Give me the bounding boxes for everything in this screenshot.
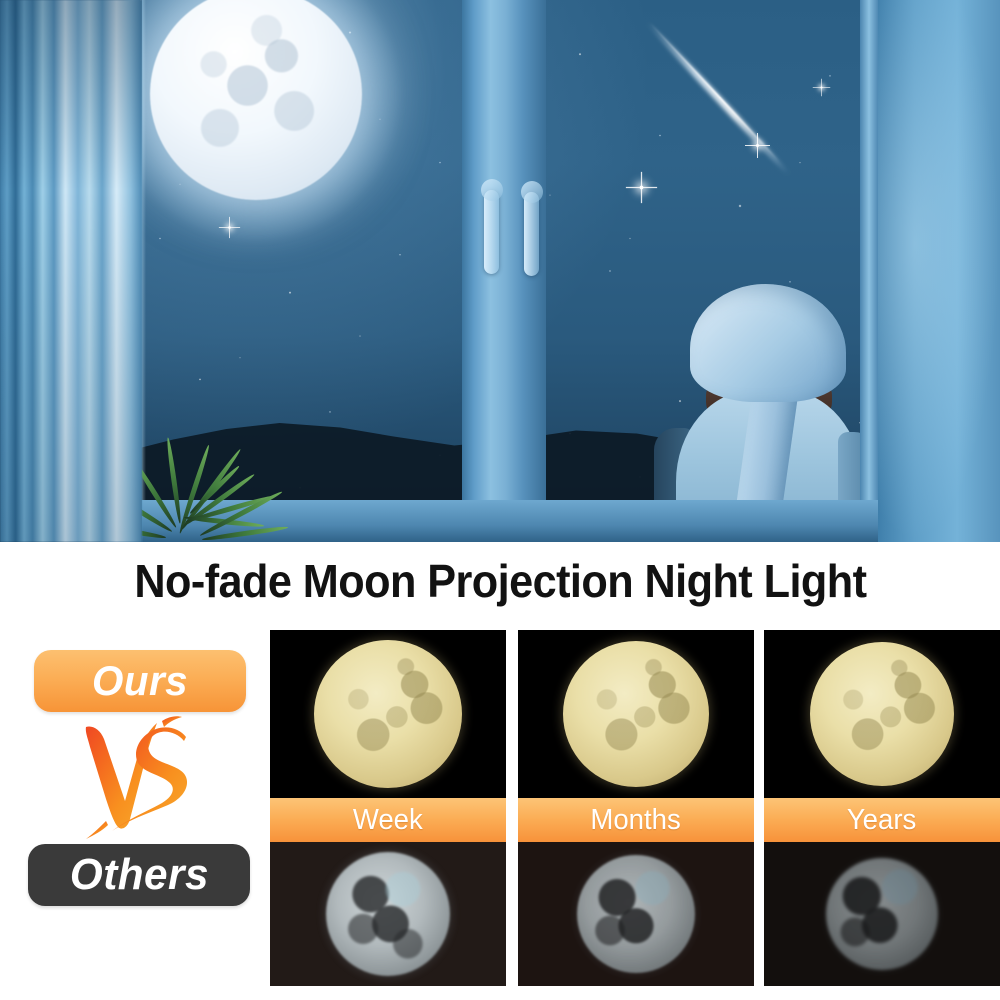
window-handle-icon[interactable]	[524, 192, 539, 276]
faded-moon-icon	[326, 852, 450, 976]
golden-moon-icon	[314, 640, 462, 788]
duration-label: Years	[847, 804, 916, 837]
ours-moon-cell	[270, 630, 506, 798]
others-badge: Others	[28, 844, 250, 906]
golden-moon-icon	[563, 641, 709, 787]
others-moon-cell	[764, 842, 1000, 986]
star-sparkle-icon	[756, 144, 759, 147]
nightcap-icon	[690, 284, 846, 402]
comparison-column: Week	[270, 630, 506, 986]
others-moon-cell	[270, 842, 506, 986]
duration-label-bar: Years	[764, 798, 1000, 842]
star-sparkle-icon	[820, 86, 822, 88]
window-handle-icon[interactable]	[484, 190, 499, 274]
vs-graphic	[28, 712, 252, 844]
duration-label: Week	[353, 804, 423, 837]
product-title-bar: No-fade Moon Projection Night Light	[0, 548, 1000, 614]
wall-light-glow	[878, 0, 1000, 542]
product-marketing-image: No-fade Moon Projection Night Light Ours	[0, 0, 1000, 1000]
faded-moon-icon	[826, 858, 938, 970]
ours-badge: Ours	[34, 650, 246, 712]
others-badge-label: Others	[69, 850, 208, 900]
duration-label-bar: Months	[518, 798, 754, 842]
hero-night-scene	[0, 0, 1000, 542]
comparison-column: Months	[518, 630, 754, 986]
comparison-section: Ours	[0, 622, 1000, 992]
versus-column: Ours	[28, 650, 252, 960]
star-sparkle-icon	[228, 226, 231, 229]
curtain-shading	[0, 0, 142, 542]
faded-moon-icon	[577, 855, 695, 973]
duration-label-bar: Week	[270, 798, 506, 842]
window-sash-right	[860, 0, 878, 542]
duration-label: Months	[591, 804, 681, 837]
others-moon-cell	[518, 842, 754, 986]
golden-moon-icon	[810, 642, 954, 786]
vs-brush-icon	[78, 715, 202, 841]
ours-moon-cell	[518, 630, 754, 798]
ours-moon-cell	[764, 630, 1000, 798]
comparison-column: Years	[764, 630, 1000, 986]
star-sparkle-icon	[640, 186, 644, 190]
ours-badge-label: Ours	[92, 657, 188, 705]
page-title: No-fade Moon Projection Night Light	[134, 554, 866, 608]
